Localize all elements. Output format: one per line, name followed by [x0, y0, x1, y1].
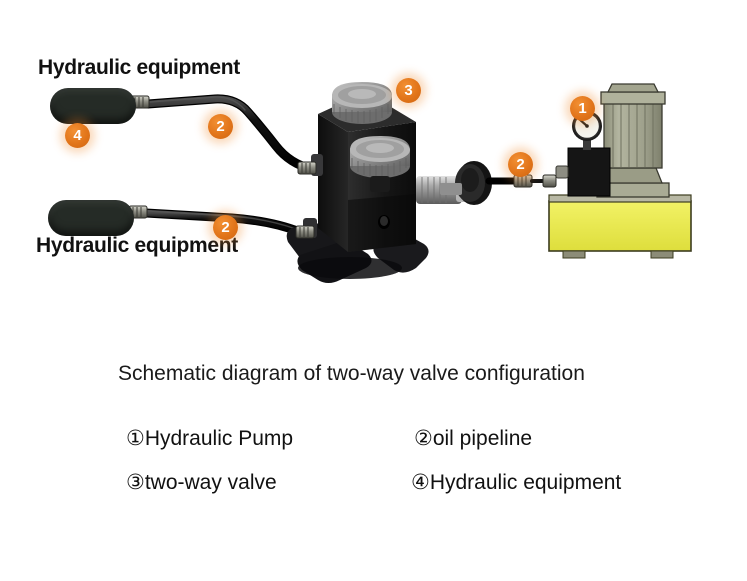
legend-item-two-way-valve: ③two-way valve [126, 470, 277, 495]
hydraulic-equipment-bottom [48, 200, 134, 236]
pump-reservoir [549, 201, 691, 251]
pump-manifold [568, 148, 610, 196]
legend-item-hydraulic-equipment: ④Hydraulic equipment [411, 470, 621, 495]
callout-badge-2-oil-pipeline-bottom[interactable]: 2 [213, 215, 238, 240]
diagram-caption: Schematic diagram of two-way valve confi… [118, 362, 585, 386]
equipment-label-top: Hydraulic equipment [38, 56, 240, 80]
callout-badge-2-oil-pipeline-right[interactable]: 2 [508, 152, 533, 177]
two-way-valve [287, 82, 492, 283]
callout-badge-3-two-way-valve[interactable]: 3 [396, 78, 421, 103]
valve-knob-upper[interactable] [332, 82, 392, 124]
callout-badge-2-oil-pipeline-top[interactable]: 2 [208, 114, 233, 139]
hose-fitting-valve-bottom [296, 226, 314, 238]
equipment-label-bottom: Hydraulic equipment [36, 234, 238, 258]
callout-badge-4-hydraulic-equipment[interactable]: 4 [65, 123, 90, 148]
valve-outlet-right [416, 161, 492, 205]
schematic-diagram-page: Hydraulic equipment Hydraulic equipment … [0, 0, 747, 581]
legend-item-hydraulic-pump: ①Hydraulic Pump [126, 426, 293, 451]
legend-item-oil-pipeline: ②oil pipeline [414, 426, 532, 451]
valve-body-left [318, 114, 348, 252]
hydraulic-equipment-top [50, 88, 136, 124]
hose-fitting-valve-top [298, 162, 316, 174]
callout-badge-1-hydraulic-pump[interactable]: 1 [570, 96, 595, 121]
